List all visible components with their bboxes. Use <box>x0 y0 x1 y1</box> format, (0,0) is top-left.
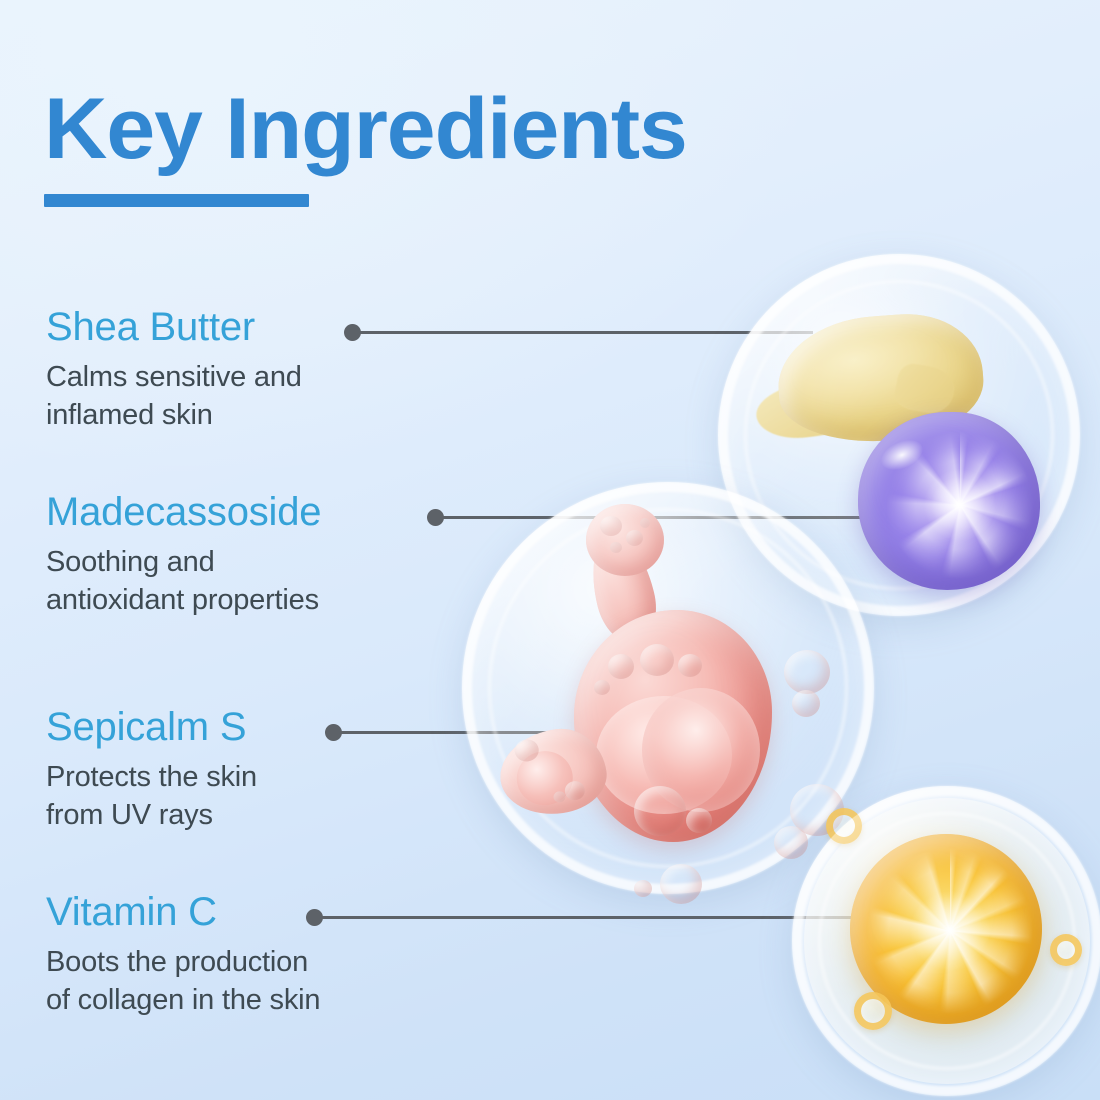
madecassoside-droplet-icon <box>858 412 1040 590</box>
title-block: Key Ingredients <box>44 86 944 172</box>
ingredient-name: Vitamin C <box>46 891 320 933</box>
ingredient-description: Calms sensitive and inflamed skin <box>46 358 302 435</box>
ingredient-item-vitamin-c: Vitamin C Boots the production of collag… <box>46 891 320 1020</box>
gold-ring-bubble <box>854 992 892 1030</box>
pink-bubble-floating <box>660 864 702 904</box>
ingredient-name: Sepicalm S <box>46 706 257 748</box>
ingredient-item-madecassoside: Madecassoside Soothing and antioxidant p… <box>46 491 321 620</box>
pink-bubble <box>553 791 566 804</box>
pink-bubble <box>640 644 674 676</box>
pink-bubble <box>608 654 634 679</box>
pink-bubble-floating <box>784 650 830 694</box>
pink-bubble <box>600 516 622 536</box>
ingredient-description: Protects the skin from UV rays <box>46 758 257 835</box>
gold-ring-bubble <box>826 808 862 844</box>
pink-bubble <box>564 780 586 802</box>
gold-ring-bubble <box>1050 934 1082 966</box>
ingredient-item-sepicalm-s: Sepicalm S Protects the skin from UV ray… <box>46 706 257 835</box>
pink-gel-head <box>586 504 664 576</box>
petri-dish-vitamin-c <box>792 786 1100 1096</box>
pink-bubble <box>686 808 712 833</box>
pink-bubble <box>640 518 650 528</box>
pink-bubble <box>610 542 622 553</box>
ingredient-description: Boots the production of collagen in the … <box>46 943 320 1020</box>
page-title: Key Ingredients <box>44 86 962 172</box>
leader-line-shea-butter <box>348 331 813 334</box>
pink-bubble <box>634 786 686 836</box>
key-ingredients-poster: Key Ingredients Shea Butter Calms sensit… <box>0 0 1100 1100</box>
petri-dish-sepicalm-s <box>462 482 874 894</box>
ingredient-description: Soothing and antioxidant properties <box>46 543 321 620</box>
pink-bubble-floating <box>634 880 652 897</box>
pink-bubble-floating <box>774 826 808 859</box>
pink-bubble <box>594 680 610 695</box>
ingredient-item-shea-butter: Shea Butter Calms sensitive and inflamed… <box>46 306 302 435</box>
leader-line-vitamin-c <box>310 916 851 919</box>
title-underline-accent <box>44 194 309 207</box>
pink-bubble-floating <box>792 690 820 717</box>
pink-bubble <box>626 530 643 546</box>
ingredient-name: Madecassoside <box>46 491 321 533</box>
pink-bubble <box>678 654 702 677</box>
ingredient-name: Shea Butter <box>46 306 302 348</box>
